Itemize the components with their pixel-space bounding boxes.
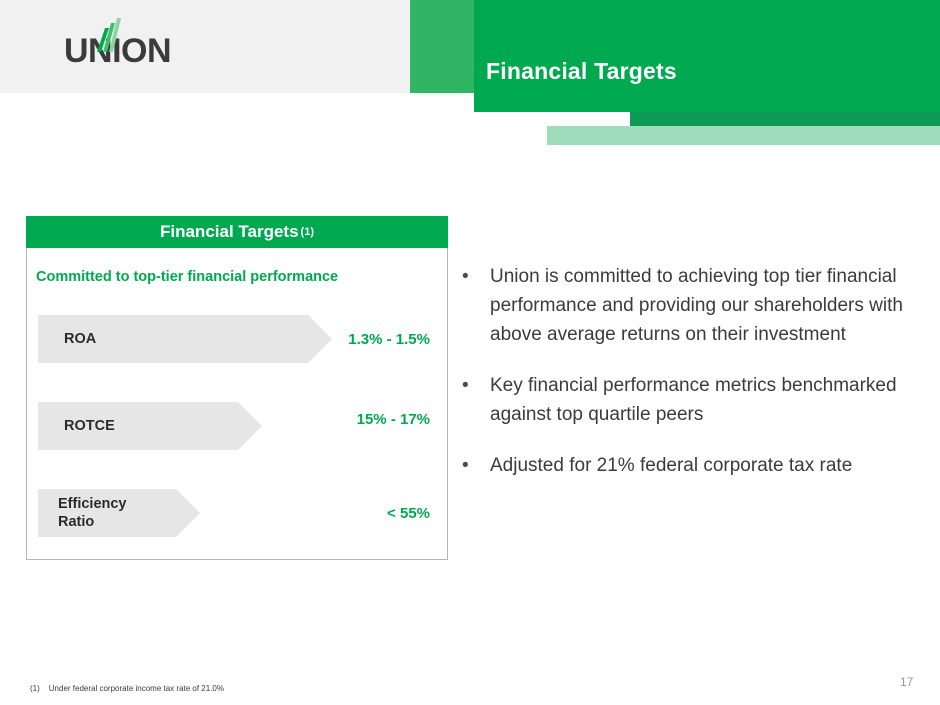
metric-value-efficiency-ratio: < 55% [300, 505, 430, 522]
panel-subtitle: Committed to top-tier financial performa… [36, 269, 338, 285]
metric-label-roa: ROA [64, 330, 96, 348]
metric-arrow-roa: ROA [38, 315, 308, 363]
metric-row-roa: ROA [38, 315, 308, 363]
metric-arrow-efficiency-ratio: Efficiency Ratio [38, 489, 176, 537]
metric-label-efficiency-line1: Efficiency [58, 496, 127, 512]
bullet-item: • Adjusted for 21% federal corporate tax… [462, 451, 924, 480]
bullet-marker-icon: • [462, 371, 490, 429]
header-accent-block [410, 0, 482, 93]
metric-arrow-rotce: ROTCE [38, 402, 238, 450]
page-number: 17 [900, 675, 913, 689]
company-logo: UNION [64, 22, 264, 70]
metric-label-efficiency-line2: Ratio [58, 514, 94, 530]
bullet-item: • Union is committed to achieving top ti… [462, 262, 924, 349]
metric-row-rotce: ROTCE [38, 402, 238, 450]
panel-title: Financial Targets(1) [26, 216, 448, 248]
footnote-text: Under federal corporate income tax rate … [49, 684, 224, 693]
bullet-list: • Union is committed to achieving top ti… [462, 262, 924, 502]
header-green-block [474, 0, 940, 112]
bullet-text: Adjusted for 21% federal corporate tax r… [490, 451, 924, 480]
panel-title-text: Financial Targets [160, 222, 299, 242]
bullet-marker-icon: • [462, 262, 490, 349]
metric-row-efficiency-ratio: Efficiency Ratio [38, 489, 176, 537]
header-title: Financial Targets [486, 58, 677, 85]
panel-title-superscript: (1) [301, 226, 314, 238]
bullet-text: Key financial performance metrics benchm… [490, 371, 924, 429]
footnote-marker: (1) [30, 684, 40, 693]
bullet-item: • Key financial performance metrics benc… [462, 371, 924, 429]
footnote: (1)Under federal corporate income tax ra… [30, 684, 224, 693]
bullet-marker-icon: • [462, 451, 490, 480]
slide: Financial Targets UNION Financial Target… [0, 0, 940, 705]
bullet-text: Union is committed to achieving top tier… [490, 262, 924, 349]
metric-label-rotce: ROTCE [64, 417, 115, 435]
three-slanted-bars-icon [83, 18, 123, 52]
metric-label-efficiency-ratio: Efficiency Ratio [58, 495, 127, 531]
header-shadow-light [547, 126, 940, 145]
metric-value-roa: 1.3% - 1.5% [300, 331, 430, 348]
metric-value-rotce: 15% - 17% [300, 411, 430, 428]
